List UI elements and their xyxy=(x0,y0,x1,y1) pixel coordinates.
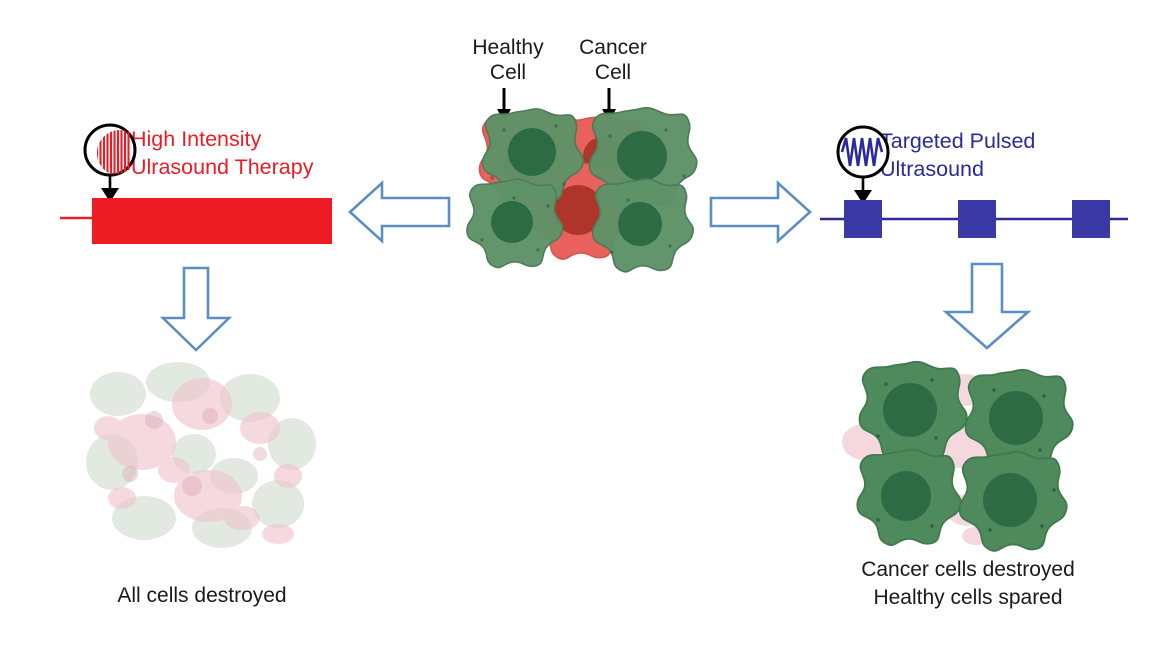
pulsed-ultrasound-beam xyxy=(820,192,1130,248)
pulse-block xyxy=(1072,200,1110,238)
left-flow-block-arrow xyxy=(157,266,235,352)
left-outcome-caption: All cells destroyed xyxy=(52,582,352,610)
left-branch-block-arrow xyxy=(348,176,452,248)
pulse-block xyxy=(844,200,882,238)
right-outcome-caption: Cancer cells destroyed Healthy cells spa… xyxy=(818,556,1118,612)
diagram-canvas: Healthy Cell Cancer Cell xyxy=(0,0,1152,648)
tumour-cell-cluster xyxy=(452,100,702,278)
right-outcome-cells xyxy=(848,350,1084,550)
left-treatment-label: High Intensity Ulrasound Therapy xyxy=(131,126,361,181)
right-flow-block-arrow xyxy=(940,262,1034,350)
continuous-ultrasound-beam xyxy=(60,190,350,254)
spared-healthy-cell xyxy=(857,450,960,546)
healthy-cell-label: Healthy Cell xyxy=(448,36,568,86)
cancer-cell-label: Cancer Cell xyxy=(553,36,673,86)
pulse-block xyxy=(958,200,996,238)
right-branch-block-arrow xyxy=(708,176,812,248)
left-outcome-debris-field xyxy=(82,358,314,548)
healthy-cell xyxy=(467,179,563,267)
healthy-cell xyxy=(593,179,694,272)
right-treatment-label: Targeted Pulsed Ultrasound xyxy=(880,128,1130,183)
